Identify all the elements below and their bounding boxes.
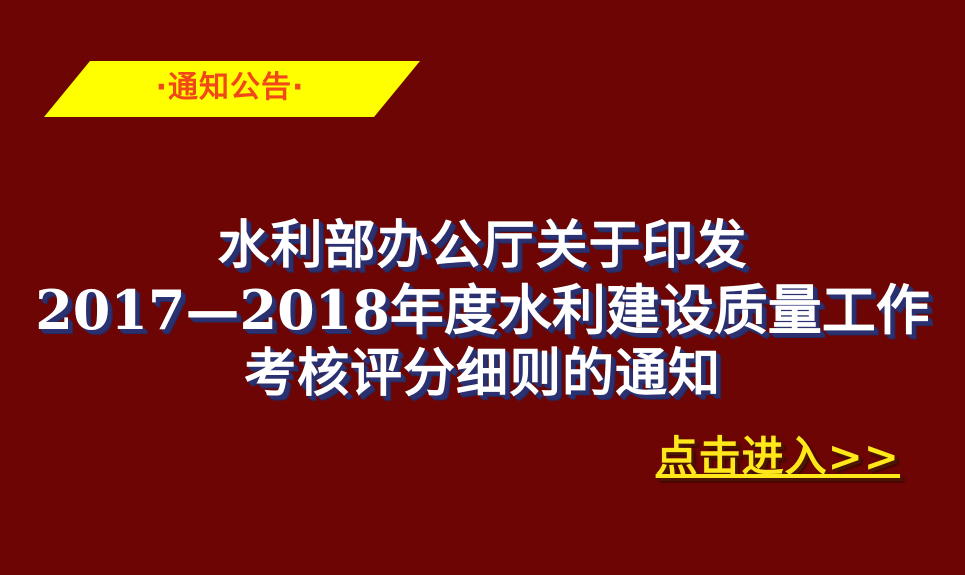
notice-category-ribbon: ·通知公告· [44, 61, 420, 117]
notice-category-label: ·通知公告· [156, 73, 305, 103]
notice-title-line-1: 水利部办公厅关于印发 [0, 214, 965, 278]
notice-title-line-3: 考核评分细则的通知 [0, 342, 965, 406]
enter-link[interactable]: 点击进入>> [656, 432, 900, 482]
notice-poster: ·通知公告· 水利部办公厅关于印发 2017—2018年度水利建设质量工作 考核… [0, 0, 965, 575]
enter-link-row: 点击进入>> [0, 432, 965, 482]
notice-title: 水利部办公厅关于印发 2017—2018年度水利建设质量工作 考核评分细则的通知 [0, 214, 965, 406]
notice-title-line-2: 2017—2018年度水利建设质量工作 [0, 278, 965, 342]
